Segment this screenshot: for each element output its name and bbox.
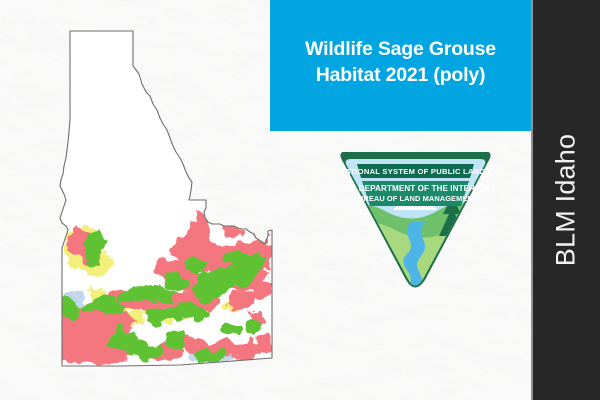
blm-seal-logo: NATIONAL SYSTEM OF PUBLIC LANDS U.S. DEP… xyxy=(333,152,498,295)
map-card: Wildlife Sage Grouse Habitat 2021 (poly) xyxy=(0,0,600,400)
map-title: Wildlife Sage Grouse Habitat 2021 (poly) xyxy=(305,37,496,89)
logo-band-mid-line2: BUREAU OF LAND MANAGEMENT xyxy=(353,194,478,203)
logo-band-mid-line1: U.S. DEPARTMENT OF THE INTERIOR xyxy=(340,184,490,193)
brand-label: BLM Idaho xyxy=(550,134,581,266)
brand-sidebar: BLM Idaho xyxy=(531,0,600,400)
sidebar-edge-highlight xyxy=(531,0,533,400)
logo-band-top-text: NATIONAL SYSTEM OF PUBLIC LANDS xyxy=(340,167,491,176)
title-banner: Wildlife Sage Grouse Habitat 2021 (poly) xyxy=(270,0,531,131)
